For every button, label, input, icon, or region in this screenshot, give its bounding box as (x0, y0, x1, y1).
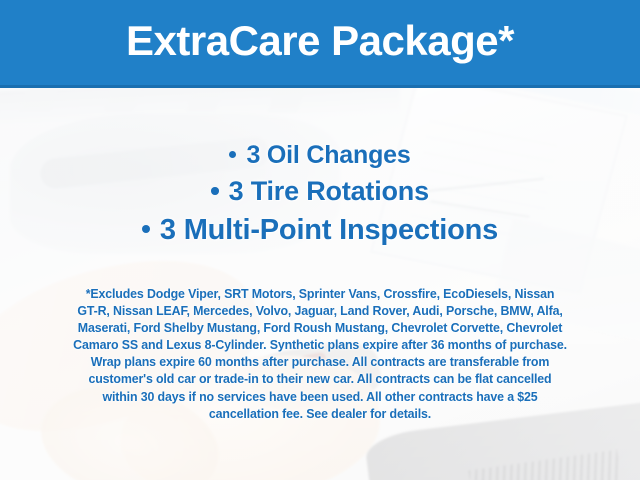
disclaimer-line: cancellation fee. See dealer for details… (23, 406, 618, 423)
bullet-dot-icon (142, 225, 150, 233)
benefit-label: 3 Oil Changes (246, 141, 410, 169)
disclaimer-line: GT-R, Nissan LEAF, Mercedes, Volvo, Jagu… (23, 303, 618, 320)
disclaimer-line: Maserati, Ford Shelby Mustang, Ford Rous… (23, 320, 618, 337)
disclaimer-line: customer's old car or trade-in to their … (23, 371, 618, 388)
benefit-item-tire-rotations: 3 Tire Rotations (0, 173, 640, 210)
page-title: ExtraCare Package* (126, 20, 514, 65)
bullet-dot-icon (211, 187, 219, 195)
header-banner: ExtraCare Package* (0, 0, 640, 88)
benefit-item-multi-point-inspections: 3 Multi-Point Inspections (0, 210, 640, 250)
bullet-dot-icon (229, 151, 236, 158)
disclaimer-line: within 30 days if no services have been … (23, 389, 618, 406)
benefit-label: 3 Multi-Point Inspections (160, 214, 498, 246)
disclaimer-line: Wrap plans expire 60 months after purcha… (23, 354, 618, 371)
disclaimer-line: *Excludes Dodge Viper, SRT Motors, Sprin… (23, 286, 618, 303)
benefits-list: 3 Oil Changes 3 Tire Rotations 3 Multi-P… (0, 138, 640, 250)
benefit-item-oil-changes: 3 Oil Changes (0, 138, 640, 173)
disclaimer-text: *Excludes Dodge Viper, SRT Motors, Sprin… (23, 286, 618, 423)
benefit-label: 3 Tire Rotations (229, 176, 429, 206)
extracare-package-banner: ExtraCare Package* 3 Oil Changes 3 Tire … (0, 0, 640, 480)
disclaimer-line: Camaro SS and Lexus 8-Cylinder. Syntheti… (23, 337, 618, 354)
